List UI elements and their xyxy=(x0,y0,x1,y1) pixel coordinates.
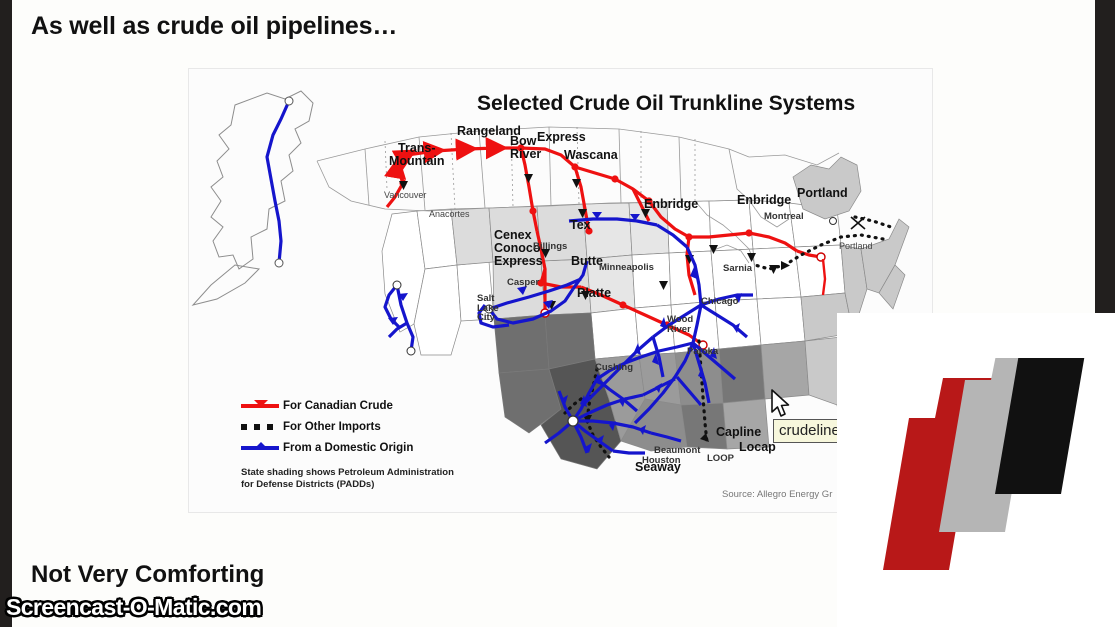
slide-title: As well as crude oil pipelines… xyxy=(31,12,397,41)
map-source-credit: Source: Allegro Energy Gr xyxy=(722,489,832,500)
map-label-tex: Tex xyxy=(570,219,591,232)
logo-overlay-panel xyxy=(837,313,1115,627)
map-hover-tooltip: crudeline xyxy=(773,419,846,443)
map-label-capline: Capline xyxy=(716,426,761,439)
map-label-platte: Platte xyxy=(577,287,611,300)
map-city-salt-lake-city: Salt Lake City xyxy=(477,294,499,323)
map-label-express-north: Express xyxy=(537,131,586,144)
black-dotted-line-icon xyxy=(241,421,279,433)
slide-footer-text: Not Very Comforting xyxy=(31,561,264,589)
map-city-loop: LOOP xyxy=(707,454,734,464)
map-city-sarnia: Sarnia xyxy=(723,264,752,274)
screencast-watermark: Screencast-O-Matic.com xyxy=(6,594,261,621)
legend-label: For Canadian Crude xyxy=(283,400,393,412)
map-city-houston: Houston xyxy=(642,456,681,466)
video-letterbox-left xyxy=(0,0,12,627)
map-label-enbridge-east: Enbridge xyxy=(737,194,791,207)
map-label-wascana: Wascana xyxy=(564,149,618,162)
mouse-pointer-icon xyxy=(770,389,792,419)
legend-item-canadian-crude: For Canadian Crude xyxy=(241,396,413,415)
map-city-montreal: Montreal xyxy=(764,212,804,222)
legend-label: From a Domestic Origin xyxy=(283,442,413,454)
map-city-billings: Billings xyxy=(533,242,567,252)
map-city-anacortes: Anacortes xyxy=(429,210,470,219)
map-label-portland-pipeline: Portland xyxy=(797,187,848,200)
blue-arrow-line-icon xyxy=(241,442,279,454)
map-city-vancouver: Vancouver xyxy=(384,191,426,200)
map-city-minneapolis: Minneapolis xyxy=(599,263,654,273)
legend-item-domestic-origin: From a Domestic Origin xyxy=(241,438,413,457)
map-city-patoka: Patoka xyxy=(687,347,718,357)
map-label-trans-mountain: Trans- Mountain xyxy=(389,142,445,168)
video-letterbox-right xyxy=(1095,0,1115,313)
map-city-portland-me: Portland xyxy=(839,242,873,251)
red-arrow-line-icon xyxy=(241,400,279,412)
legend-label: For Other Imports xyxy=(283,421,381,433)
ttt-logo xyxy=(857,358,1101,584)
map-city-chicago: Chicago xyxy=(701,297,738,307)
map-label-enbridge-west: Enbridge xyxy=(644,198,698,211)
map-city-cushing: Cushing xyxy=(595,363,633,373)
map-label-locap: Locap xyxy=(739,441,776,454)
map-city-casper: Casper xyxy=(507,278,539,288)
legend-padd-note: State shading shows Petroleum Administra… xyxy=(241,467,511,491)
map-city-wood-river: Wood River xyxy=(667,315,693,334)
legend-item-other-imports: For Other Imports xyxy=(241,417,413,436)
crude-oil-pipeline-map[interactable]: Selected Crude Oil Trunkline Systems xyxy=(188,68,933,513)
map-legend: For Canadian Crude For Other Imports Fro… xyxy=(241,396,413,459)
